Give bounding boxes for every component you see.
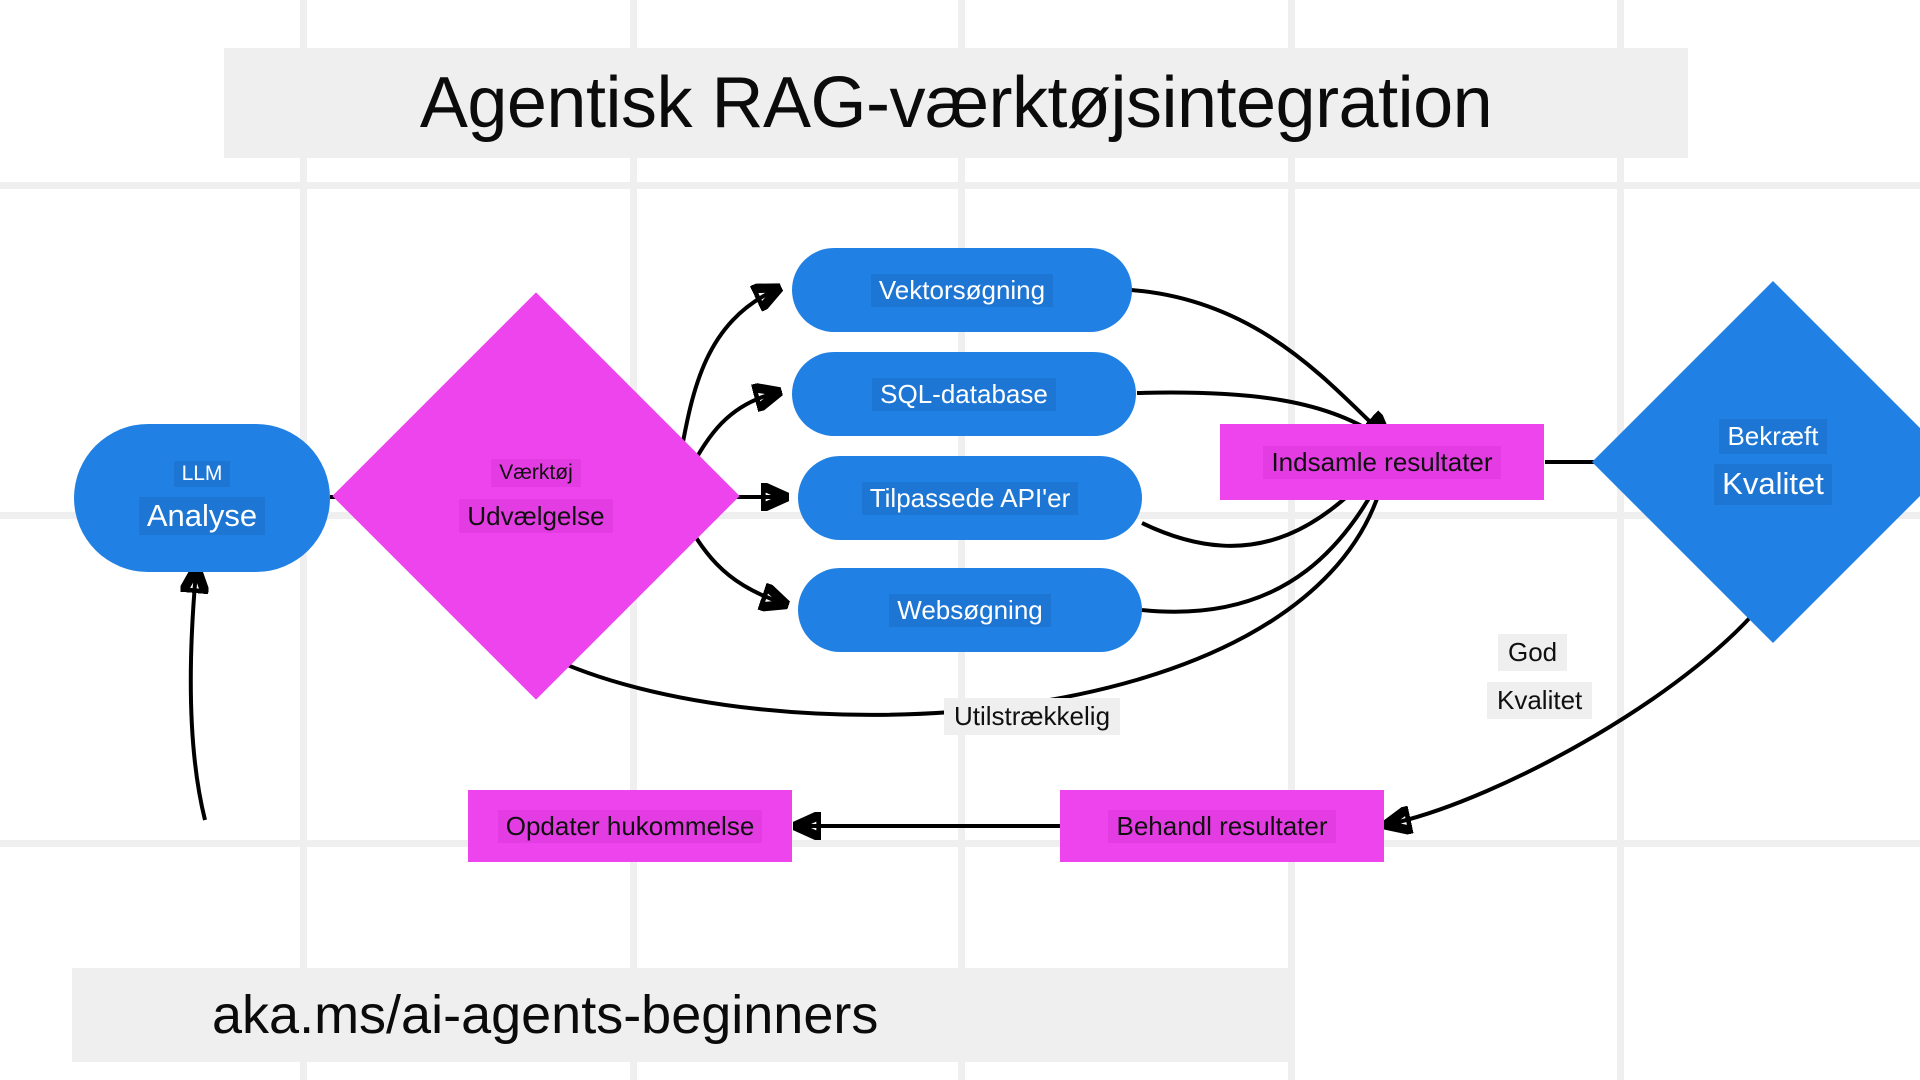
grid-line-vertical: [1617, 0, 1624, 1080]
edge-vector-search-to-collect: [1131, 290, 1384, 435]
grid-line-vertical: [1288, 0, 1295, 1080]
node-process-results-label: Behandl resultater: [1108, 810, 1335, 843]
footer-banner: aka.ms/ai-agents-beginners: [72, 968, 1292, 1062]
node-vector-search-label: Vektorsøgning: [871, 274, 1053, 307]
node-vector-search[interactable]: Vektorsøgning: [792, 248, 1132, 332]
node-web-search-label: Websøgning: [889, 594, 1051, 627]
edge-label-good-line2: Kvalitet: [1487, 682, 1592, 719]
node-tool-selection-line2: Udvælgelse: [459, 499, 612, 534]
grid-line-horizontal: [0, 840, 1920, 847]
node-update-memory-label: Opdater hukommelse: [498, 810, 763, 843]
edge-label-insufficient: Utilstrækkelig: [944, 698, 1120, 735]
node-llm-analyse-line2: Analyse: [139, 497, 265, 535]
node-sql-database[interactable]: SQL-database: [792, 352, 1136, 436]
node-verify-quality-line2: Kvalitet: [1714, 464, 1832, 505]
node-tool-selection-labels: Værktøj Udvælgelse: [459, 459, 612, 534]
node-llm-analyse[interactable]: LLM Analyse: [74, 424, 330, 572]
grid-line-horizontal: [0, 182, 1920, 189]
node-collect-results-label: Indsamle resultater: [1263, 446, 1500, 479]
edge-update-memory-to-llm: [191, 572, 205, 820]
node-collect-results[interactable]: Indsamle resultater: [1220, 424, 1544, 500]
node-verify-quality[interactable]: Bekræft Kvalitet: [1645, 334, 1901, 590]
title-banner: Agentisk RAG-værktøjsintegration: [224, 48, 1688, 158]
footer-link-text: aka.ms/ai-agents-beginners: [212, 984, 878, 1046]
node-tool-selection-line1: Værktøj: [491, 459, 581, 487]
node-custom-apis[interactable]: Tilpassede API'er: [798, 456, 1142, 540]
node-verify-quality-line1: Bekræft: [1719, 419, 1826, 454]
node-tool-selection[interactable]: Værktøj Udvælgelse: [392, 352, 680, 640]
page-title: Agentisk RAG-værktøjsintegration: [420, 62, 1492, 144]
node-sql-database-label: SQL-database: [872, 378, 1056, 411]
node-verify-quality-labels: Bekræft Kvalitet: [1714, 419, 1832, 504]
diagram-canvas: Agentisk RAG-værktøjsintegration LLM Ana…: [0, 0, 1920, 1080]
node-process-results[interactable]: Behandl resultater: [1060, 790, 1384, 862]
grid-line-vertical: [958, 0, 965, 1080]
node-web-search[interactable]: Websøgning: [798, 568, 1142, 652]
node-custom-apis-label: Tilpassede API'er: [862, 482, 1079, 515]
edge-label-good-line1: God: [1498, 634, 1567, 671]
node-llm-analyse-line1: LLM: [174, 461, 231, 487]
node-update-memory[interactable]: Opdater hukommelse: [468, 790, 792, 862]
